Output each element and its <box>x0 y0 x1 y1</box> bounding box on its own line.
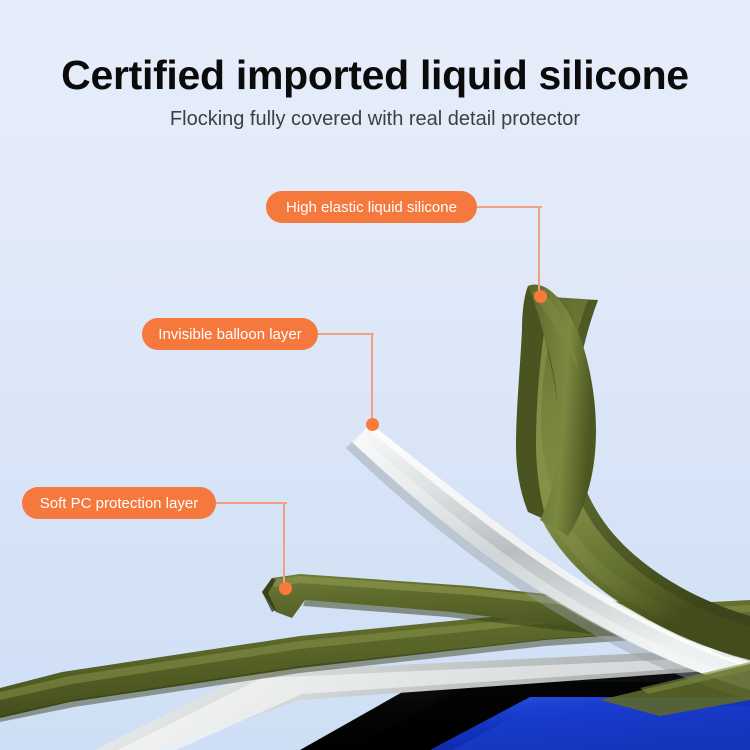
callout-label: Soft PC protection layer <box>40 495 198 512</box>
product-feature-banner: Certified imported liquid silicone Flock… <box>0 0 750 750</box>
callout-high-elastic-liquid-silicone[interactable]: High elastic liquid silicone <box>266 191 477 223</box>
callout-label: High elastic liquid silicone <box>286 199 457 216</box>
callout-invisible-balloon-layer[interactable]: Invisible balloon layer <box>142 318 318 350</box>
page-subtitle: Flocking fully covered with real detail … <box>0 108 750 131</box>
callout-dot-invisible-balloon-layer <box>366 418 379 431</box>
callout-label: Invisible balloon layer <box>158 326 301 343</box>
callout-dot-high-elastic-liquid-silicone <box>534 290 547 303</box>
page-title: Certified imported liquid silicone <box>0 52 750 99</box>
callout-soft-pc-protection-layer[interactable]: Soft PC protection layer <box>22 487 216 519</box>
callout-dot-soft-pc-protection-layer <box>279 582 292 595</box>
